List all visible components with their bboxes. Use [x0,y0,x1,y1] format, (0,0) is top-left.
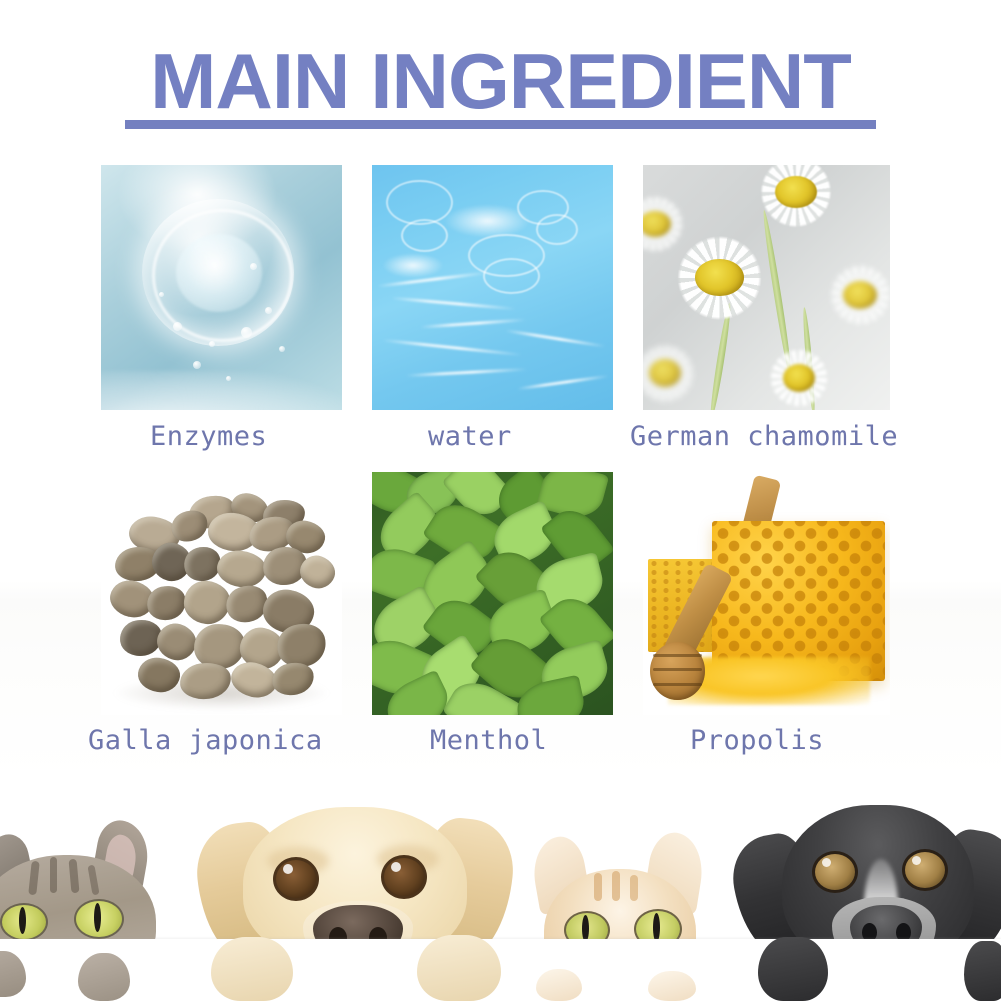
ingredient-label-galla-japonica: Galla japonica [88,726,323,756]
ingredient-label-german-chamomile: German chamomile [630,422,898,452]
dog-paw-icon [211,937,293,1001]
gall-nut-pile [106,491,337,705]
gall-nut-icon [215,548,268,590]
honey-dipper-head-icon [650,642,704,700]
cat-paw-icon [648,971,696,1001]
dog-eye-icon [381,855,427,899]
fizz-bubble-icon [279,346,285,352]
gall-nut-icon [136,655,182,695]
dog-eye-icon [812,851,858,893]
dog-eye-highlight-icon [822,858,831,867]
ingredient-image-german-chamomile [643,165,890,410]
water-wave-icon [420,318,526,328]
pet-photo-band [0,776,1001,1001]
tabby-stripe-icon [50,857,57,893]
dog-eye-highlight-icon [391,862,401,872]
fizz-bubble-icon [265,307,272,314]
chamomile-flower-icon [643,190,697,259]
cat-paw-icon [78,953,130,1001]
chamomile-flower-icon [816,258,890,332]
dog-eye-icon [273,857,319,901]
flower-center-icon [843,281,877,309]
flower-center-icon [783,364,815,392]
dipper-groove-icon [653,654,702,657]
chamomile-flower-icon [757,341,841,410]
tabby-stripe-icon [612,871,620,901]
flower-center-icon [695,259,744,296]
ingredient-image-menthol [372,472,613,715]
ingredient-image-water [372,165,613,410]
water-glint-icon [444,204,531,238]
cat-pupil-icon [582,915,589,942]
tabby-stripe-icon [594,873,602,901]
dog-eye-highlight-icon [912,856,921,865]
chamomile-flower-icon [742,165,851,234]
water-wave-icon [406,368,526,377]
dipper-groove-icon [653,668,702,671]
dog-paw-icon [964,941,1001,1001]
water-glint-icon [382,253,445,278]
cat-paw-icon [536,969,582,1001]
ingredient-label-propolis: Propolis [690,726,824,756]
ingredient-image-propolis [643,472,890,715]
foam-icon [101,371,342,410]
ingredient-label-menthol: Menthol [430,726,547,756]
water-ripple-icon [483,258,540,294]
cat-pupil-icon [19,907,26,934]
bubble-core-icon [176,234,263,312]
ingredient-image-galla-japonica [101,472,342,715]
water-ripple-icon [536,214,579,245]
ingredient-label-water: water [428,422,512,452]
dipper-groove-icon [653,683,702,686]
water-wave-icon [382,339,521,357]
fizz-bubble-icon [209,341,215,347]
cat-pupil-icon [94,903,101,932]
dog-paw-icon [758,937,828,1001]
water-wave-icon [391,297,516,311]
dog-eye-highlight-icon [283,864,293,874]
chamomile-flower-icon [643,337,707,411]
cat-pupil-icon [653,913,660,942]
ingredient-image-enzymes [101,165,342,410]
ingredient-label-enzymes: Enzymes [150,422,267,452]
dog-paw-icon [417,935,501,1001]
infographic-page: MAIN INGREDIENT Enzymes [0,0,1001,1001]
dog-eye-icon [902,849,948,891]
fizz-bubble-icon [193,361,201,369]
gall-nut-icon [183,579,233,626]
water-wave-icon [517,374,608,390]
water-wave-icon [505,329,605,348]
flower-center-icon [775,176,816,208]
fizz-bubble-icon [241,327,252,338]
water-ripple-icon [401,219,448,252]
tabby-stripe-icon [630,875,638,901]
